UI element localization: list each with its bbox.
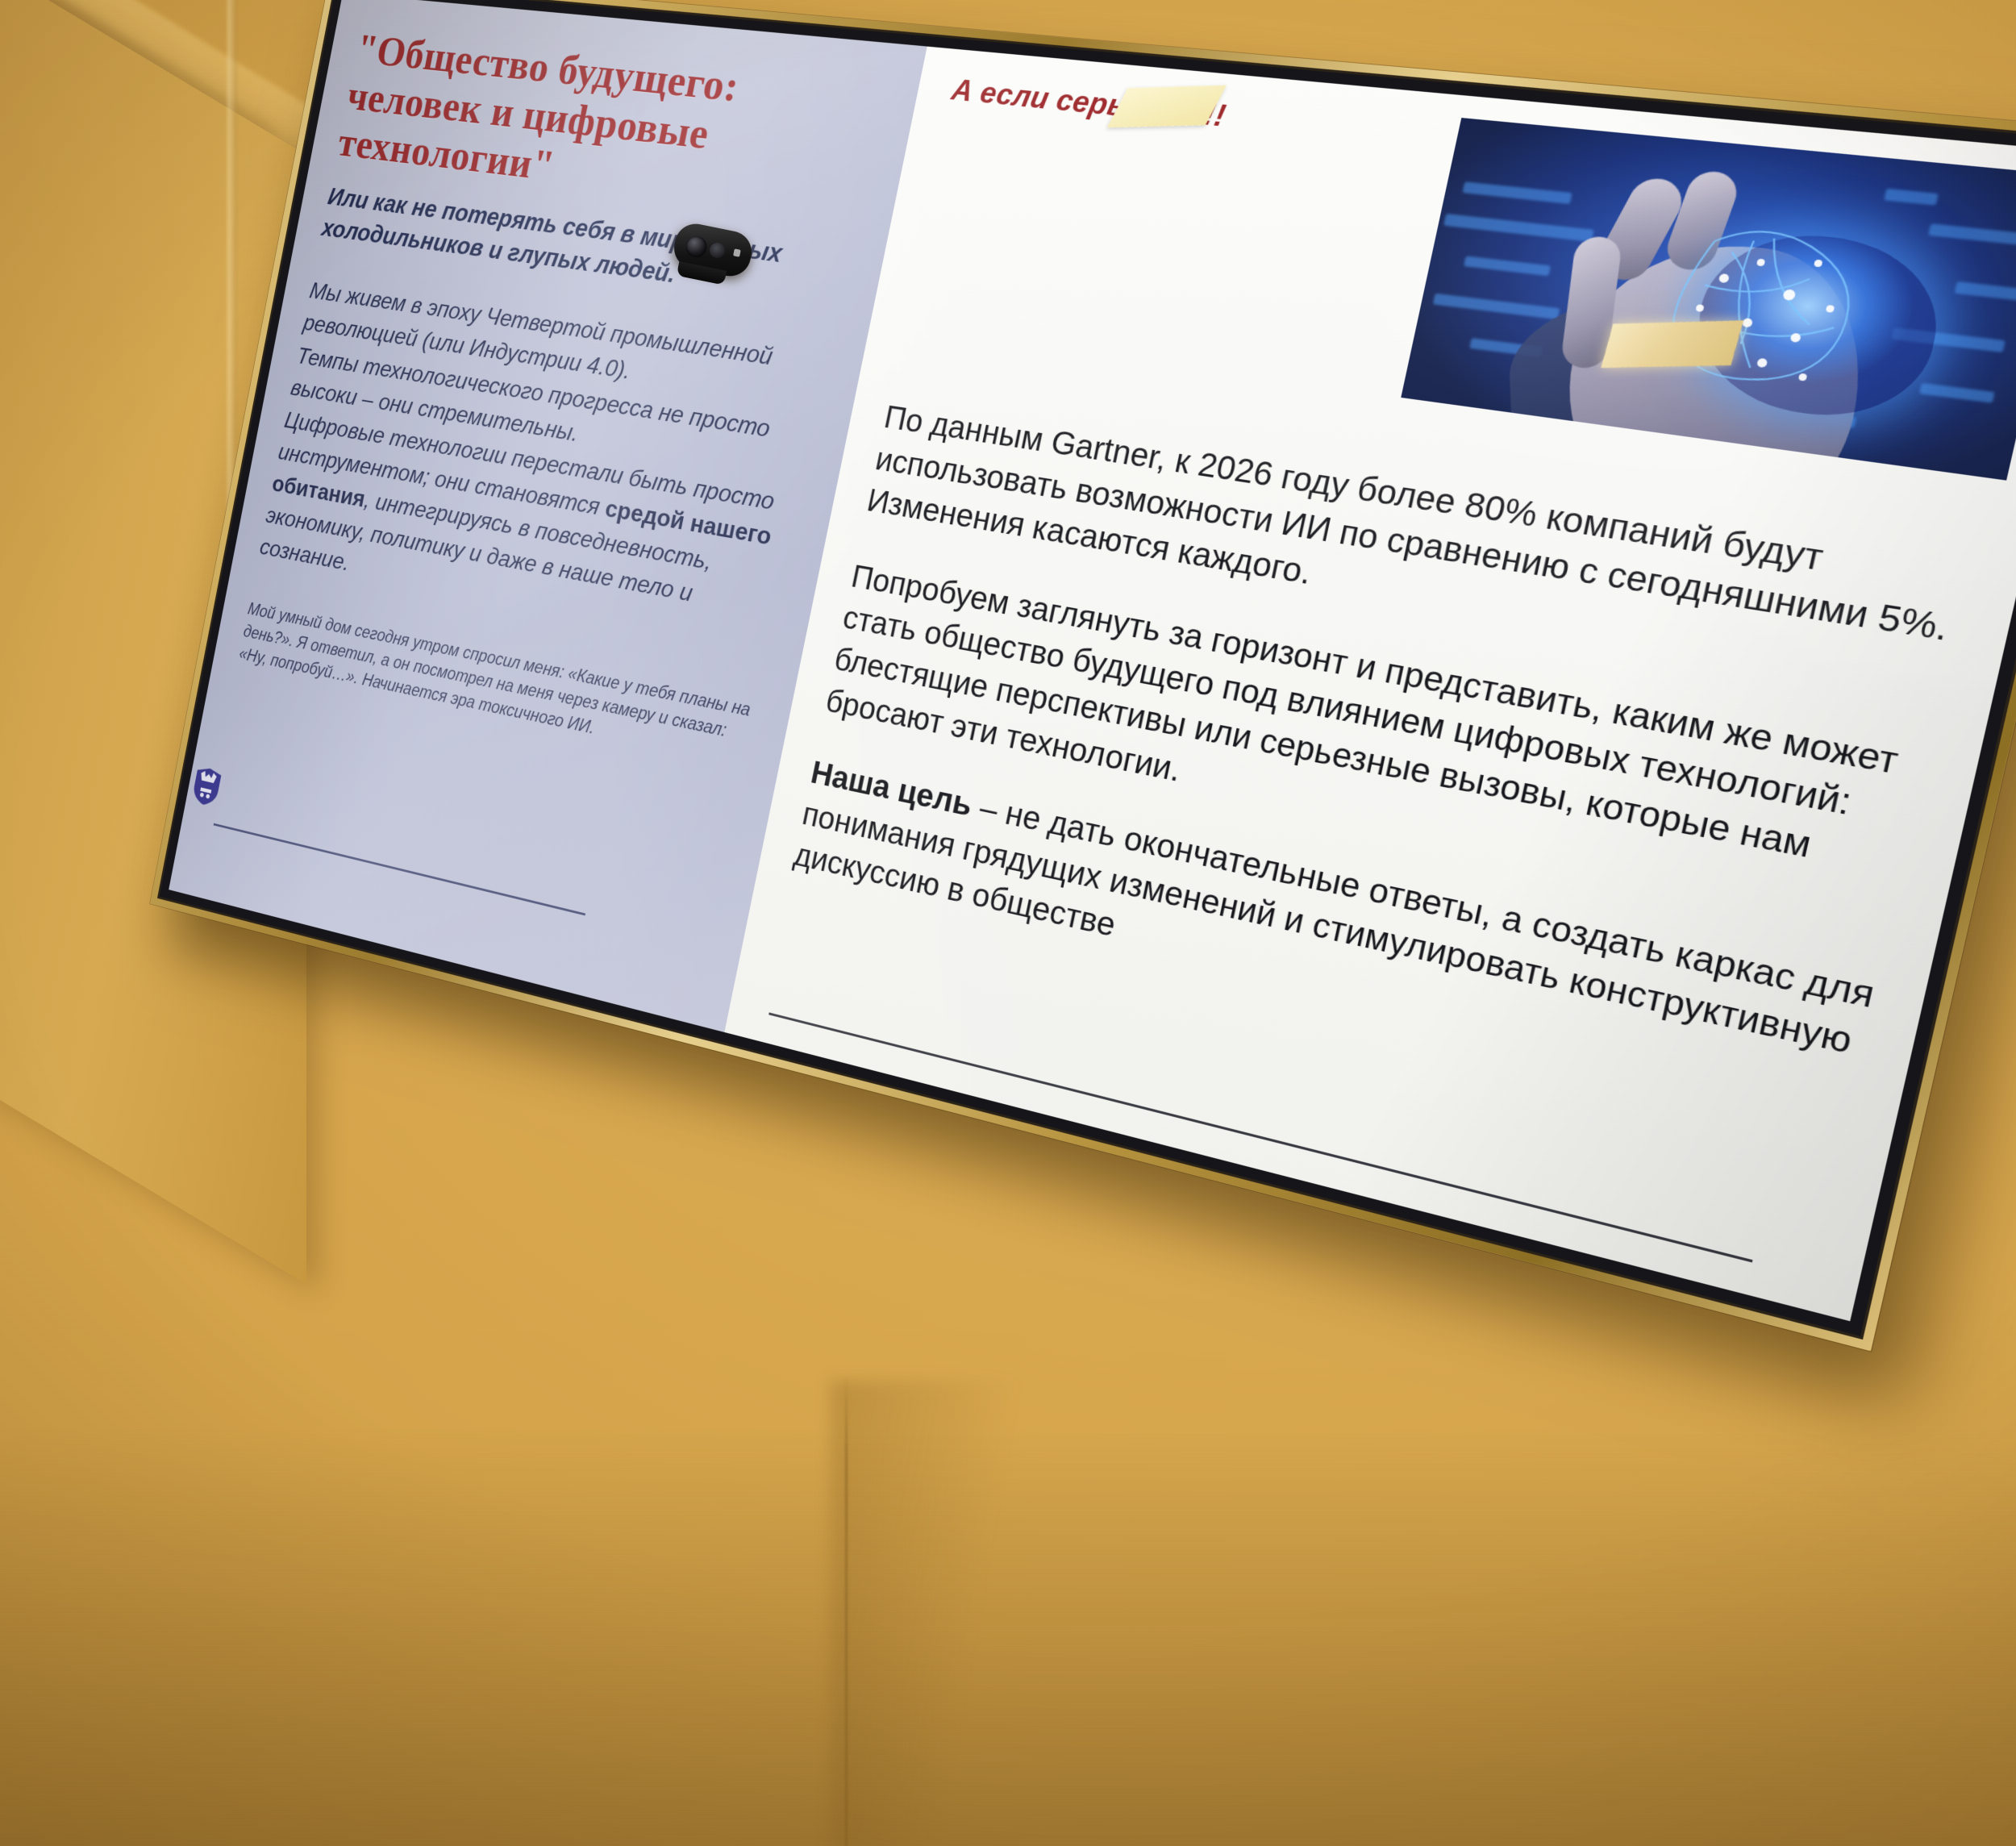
webcam-led [733, 248, 741, 256]
wall-bottom-shading [0, 1427, 2016, 1846]
webcam-lens-secondary [708, 241, 726, 259]
presentation-slide: "Общество будущего: человек и цифровые т… [169, 0, 2016, 1321]
display-frame-inner: "Общество будущего: человек и цифровые т… [157, 0, 2016, 1340]
photo-chip [1602, 320, 1744, 368]
slide-accent-heading: А если серьезно!!! [949, 73, 2016, 218]
photo-brain [1681, 226, 1954, 428]
left-column-divider [214, 823, 586, 916]
room-scene: "Общество будущего: человек и цифровые т… [0, 0, 2016, 1846]
right-column-divider [768, 1012, 1752, 1262]
display-gold-frame: "Общество будущего: человек и цифровые т… [150, 0, 2016, 1351]
display-bezel: "Общество будущего: человек и цифровые т… [160, 0, 2016, 1336]
slide-left-body: Мы живем в эпоху Четвертой промышленной … [257, 274, 838, 661]
webcam-lens [684, 234, 709, 259]
sticky-note-decoration [1107, 85, 1227, 128]
university-shield-logo [190, 765, 223, 809]
photo-brain-network [1401, 118, 2016, 481]
right-paragraph-goal: Наша цель – не дать окончательные ответы… [790, 752, 1885, 1119]
display-screen[interactable]: "Общество будущего: человек и цифровые т… [169, 0, 2016, 1321]
goal-rest-text: – не дать окончательные ответы, а создат… [791, 789, 1878, 1061]
photo-hand [1543, 231, 1889, 481]
right-paragraph-horizon: Попробуем заглянуть за горизонт и предст… [822, 556, 1938, 938]
hand-holding-digital-brain-photo [1401, 118, 2016, 481]
wall-mounted-display[interactable]: "Общество будущего: человек и цифровые т… [150, 0, 2016, 1351]
right-paragraph-gartner: По данным Gartner, к 2026 году более 80%… [863, 397, 1980, 705]
photo-sleeve [1507, 273, 1831, 481]
slide-right-column: А если серьезно!!! [725, 47, 2016, 1322]
